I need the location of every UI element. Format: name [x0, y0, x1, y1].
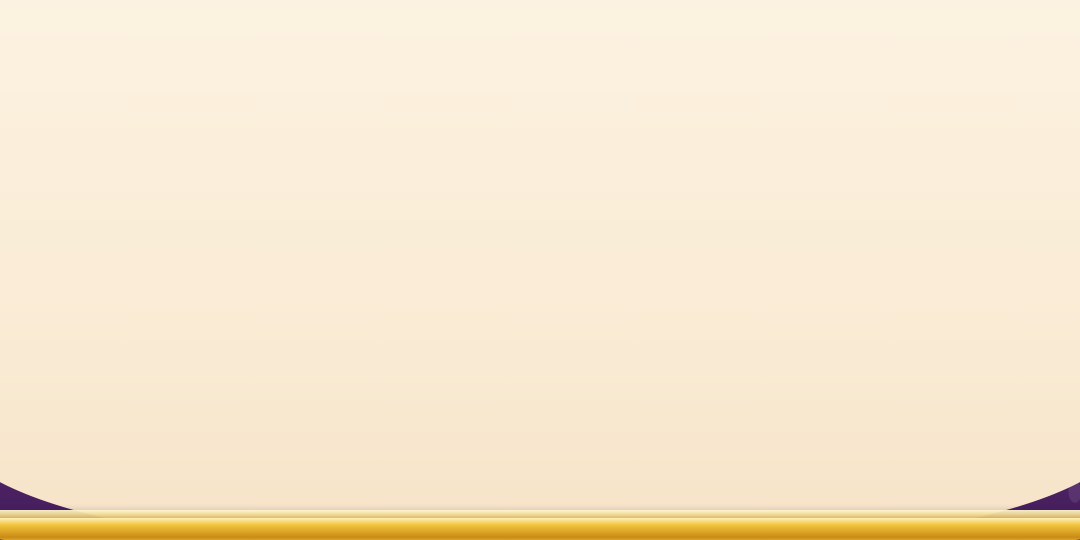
wai-khru-ceremony-banner: พิธีไหว้ครู วันพฤหัสบดี ที่ ๑๒ มิถุนายน … [0, 0, 1080, 540]
gold-swoosh-outer [0, 518, 1080, 540]
purple-base-panel [0, 350, 1080, 540]
cream-plate [0, 0, 1080, 540]
